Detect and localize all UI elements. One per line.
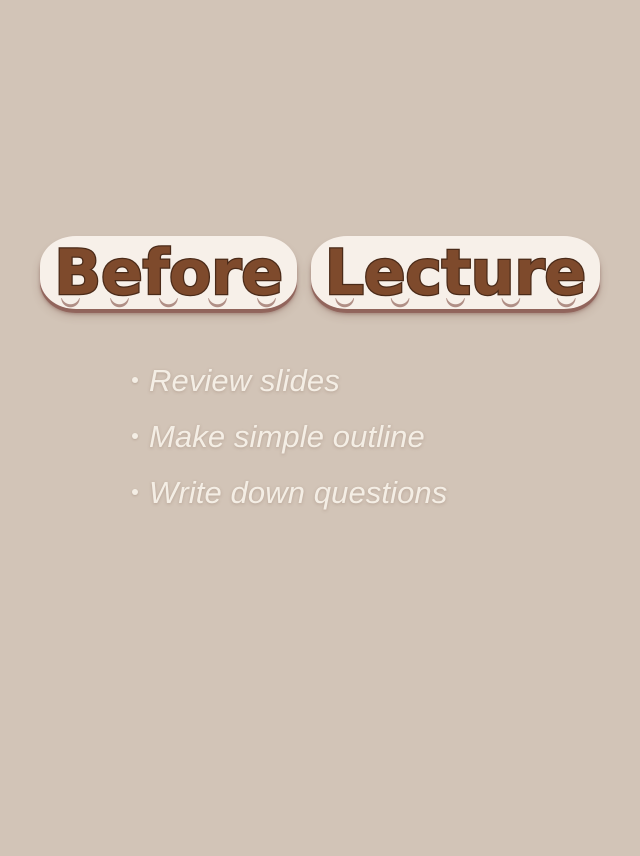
list-item: Write down questions bbox=[132, 470, 592, 516]
list-item-label: Write down questions bbox=[149, 470, 447, 516]
bullet-dot-icon bbox=[132, 489, 138, 495]
list-item-label: Review slides bbox=[149, 358, 340, 404]
page-title: Before Lecture bbox=[0, 232, 640, 315]
checklist: Review slides Make simple outline Write … bbox=[132, 358, 592, 526]
title-word-lecture: Lecture bbox=[311, 232, 600, 315]
bullet-dot-icon bbox=[132, 377, 138, 383]
title-word-before: Before bbox=[40, 232, 297, 315]
list-item: Make simple outline bbox=[132, 414, 592, 460]
slide-canvas: Before Lecture Review slides Make simple… bbox=[0, 0, 640, 856]
list-item: Review slides bbox=[132, 358, 592, 404]
bullet-dot-icon bbox=[132, 433, 138, 439]
list-item-label: Make simple outline bbox=[149, 414, 425, 460]
title-sticker-group: Before Lecture bbox=[40, 232, 600, 315]
